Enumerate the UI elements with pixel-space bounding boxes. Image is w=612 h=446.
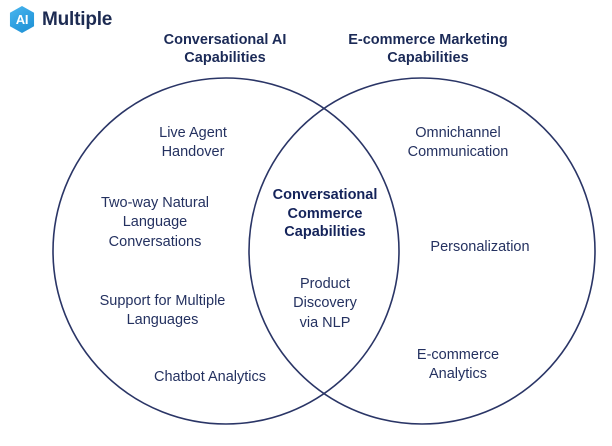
label-ecommerce-analytics: E-commerce Analytics xyxy=(385,346,531,385)
label-live-agent-handover: Live Agent Handover xyxy=(118,124,268,163)
label-multiple-languages: Support for Multiple Languages xyxy=(85,292,240,331)
label-chatbot-analytics: Chatbot Analytics xyxy=(130,368,290,387)
label-conversational-commerce-capabilities: Conversational Commerce Capabilities xyxy=(255,186,395,242)
label-two-way-conversations: Two-way Natural Language Conversations xyxy=(80,194,230,252)
label-omnichannel-communication: Omnichannel Communication xyxy=(385,124,531,163)
label-product-discovery-via-nlp: Product Discovery via NLP xyxy=(262,275,388,333)
label-personalization: Personalization xyxy=(400,238,560,257)
